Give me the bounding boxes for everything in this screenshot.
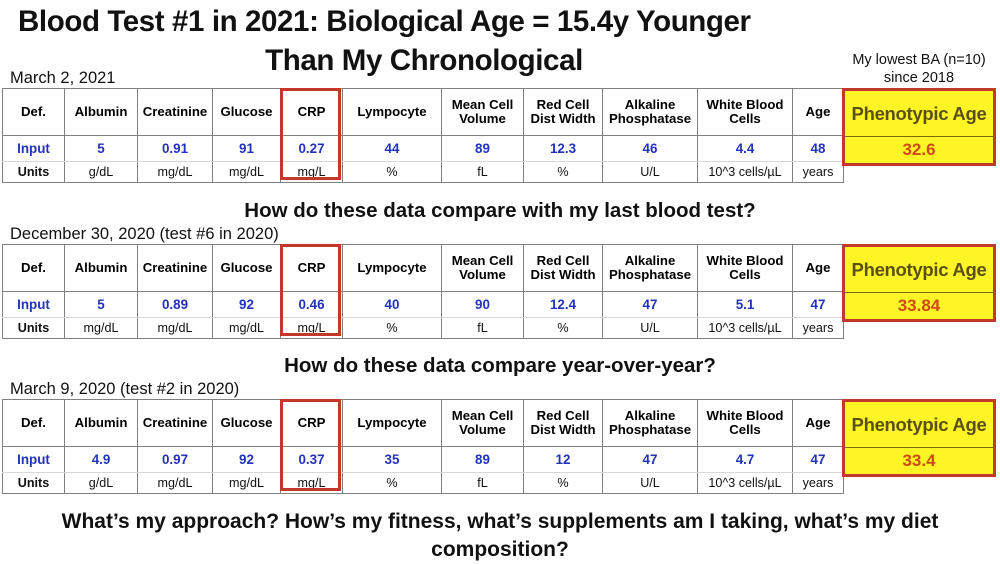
col-header-mean-cell-volume: Mean CellVolume	[442, 245, 524, 292]
input-creatinine: 0.97	[138, 447, 213, 473]
units-creatinine: mg/dL	[138, 162, 213, 183]
units-creatinine: mg/dL	[138, 473, 213, 494]
phenotypic-age-header: Phenotypic Age	[845, 91, 993, 137]
annotation-line-1: My lowest BA (n=10)	[840, 51, 998, 69]
mcv-line-1: Mean Cell	[452, 253, 514, 268]
question-banner-2: How do these data compare year-over-year…	[0, 354, 1000, 378]
table-row-input: Input 5 0.89 92 0.46 40 90 12.4 47 5.1 4…	[3, 292, 844, 318]
units-age: years	[793, 318, 844, 339]
units-alkaline-phosphatase: U/L	[603, 318, 698, 339]
units-albumin: g/dL	[65, 162, 138, 183]
phenotypic-age-box: Phenotypic Age 32.6	[842, 88, 996, 166]
col-header-mean-cell-volume: Mean CellVolume	[442, 89, 524, 136]
input-white-blood-cells: 4.7	[698, 447, 793, 473]
units-glucose: mg/dL	[213, 318, 281, 339]
col-header-lympocyte: Lympocyte	[343, 89, 442, 136]
col-header-glucose: Glucose	[213, 400, 281, 447]
mcv-line-2: Volume	[459, 267, 506, 282]
units-alkaline-phosphatase: U/L	[603, 473, 698, 494]
phenotypic-age-box: Phenotypic Age 33.4	[842, 399, 996, 477]
units-red-cell-dist-width: %	[524, 473, 603, 494]
units-creatinine: mg/dL	[138, 318, 213, 339]
rdw-line-1: Red Cell	[537, 253, 590, 268]
col-header-white-blood-cells: White BloodCells	[698, 89, 793, 136]
units-age: years	[793, 162, 844, 183]
col-header-creatinine: Creatinine	[138, 245, 213, 292]
rdw-line-1: Red Cell	[537, 97, 590, 112]
units-crp: mg/L	[281, 473, 343, 494]
col-header-red-cell-dist-width: Red CellDist Width	[524, 89, 603, 136]
col-header-alkaline-phosphatase: AlkalinePhosphatase	[603, 89, 698, 136]
input-white-blood-cells: 4.4	[698, 136, 793, 162]
alp-line-1: Alkaline	[625, 408, 676, 423]
units-crp: mg/L	[281, 162, 343, 183]
blood-test-section-2: December 30, 2020 (test #6 in 2020) Def.…	[0, 224, 1000, 339]
units-alkaline-phosphatase: U/L	[603, 162, 698, 183]
input-red-cell-dist-width: 12.3	[524, 136, 603, 162]
wbc-line-2: Cells	[729, 267, 761, 282]
blood-test-section-1: March 2, 2021 Def. Albumin Creatinine Gl…	[0, 68, 1000, 183]
table-row-units: Units g/dL mg/dL mg/dL mg/L % fL % U/L 1…	[3, 162, 844, 183]
input-crp: 0.46	[281, 292, 343, 318]
units-white-blood-cells: 10^3 cells/µL	[698, 473, 793, 494]
input-glucose: 92	[213, 292, 281, 318]
col-header-red-cell-dist-width: Red CellDist Width	[524, 245, 603, 292]
rdw-line-2: Dist Width	[530, 267, 595, 282]
units-mean-cell-volume: fL	[442, 473, 524, 494]
wbc-line-1: White Blood	[707, 253, 784, 268]
col-header-def: Def.	[3, 400, 65, 447]
col-header-albumin: Albumin	[65, 89, 138, 136]
col-header-def: Def.	[3, 89, 65, 136]
phenotypic-age-value: 32.6	[845, 137, 993, 163]
phenotypic-age-box: Phenotypic Age 33.84	[842, 244, 996, 322]
rdw-line-2: Dist Width	[530, 111, 595, 126]
row-label-units: Units	[3, 318, 65, 339]
col-header-age: Age	[793, 400, 844, 447]
closing-line-1: What’s my approach? How’s my fitness, wh…	[14, 508, 986, 536]
input-red-cell-dist-width: 12	[524, 447, 603, 473]
input-white-blood-cells: 5.1	[698, 292, 793, 318]
input-alkaline-phosphatase: 47	[603, 447, 698, 473]
section-1-date: March 2, 2021	[0, 68, 1000, 88]
section-2-date: December 30, 2020 (test #6 in 2020)	[0, 224, 1000, 244]
wbc-line-2: Cells	[729, 111, 761, 126]
col-header-mean-cell-volume: Mean CellVolume	[442, 400, 524, 447]
col-header-glucose: Glucose	[213, 89, 281, 136]
table-row-input: Input 4.9 0.97 92 0.37 35 89 12 47 4.7 4…	[3, 447, 844, 473]
col-header-crp: CRP	[281, 245, 343, 292]
alp-line-2: Phosphatase	[609, 422, 691, 437]
mcv-line-2: Volume	[459, 111, 506, 126]
alp-line-1: Alkaline	[625, 253, 676, 268]
table-row-input: Input 5 0.91 91 0.27 44 89 12.3 46 4.4 4…	[3, 136, 844, 162]
input-albumin: 4.9	[65, 447, 138, 473]
units-red-cell-dist-width: %	[524, 318, 603, 339]
col-header-age: Age	[793, 89, 844, 136]
input-mean-cell-volume: 90	[442, 292, 524, 318]
wbc-line-2: Cells	[729, 422, 761, 437]
input-age: 47	[793, 447, 844, 473]
row-label-input: Input	[3, 292, 65, 318]
row-label-units: Units	[3, 473, 65, 494]
input-crp: 0.27	[281, 136, 343, 162]
input-alkaline-phosphatase: 46	[603, 136, 698, 162]
mcv-line-1: Mean Cell	[452, 408, 514, 423]
title-line-1: Blood Test #1 in 2021: Biological Age = …	[8, 2, 992, 41]
input-crp: 0.37	[281, 447, 343, 473]
closing-question: What’s my approach? How’s my fitness, wh…	[0, 508, 1000, 564]
units-white-blood-cells: 10^3 cells/µL	[698, 318, 793, 339]
phenotypic-age-value: 33.84	[845, 293, 993, 319]
table-header-row: Def. Albumin Creatinine Glucose CRP Lymp…	[3, 245, 844, 292]
col-header-alkaline-phosphatase: AlkalinePhosphatase	[603, 245, 698, 292]
table-header-row: Def. Albumin Creatinine Glucose CRP Lymp…	[3, 89, 844, 136]
col-header-glucose: Glucose	[213, 245, 281, 292]
rdw-line-2: Dist Width	[530, 422, 595, 437]
input-lympocyte: 35	[343, 447, 442, 473]
row-label-units: Units	[3, 162, 65, 183]
wbc-line-1: White Blood	[707, 408, 784, 423]
units-lympocyte: %	[343, 473, 442, 494]
input-lympocyte: 44	[343, 136, 442, 162]
units-red-cell-dist-width: %	[524, 162, 603, 183]
phenotypic-age-header: Phenotypic Age	[845, 402, 993, 448]
blood-test-table-1: Def. Albumin Creatinine Glucose CRP Lymp…	[2, 88, 844, 183]
units-white-blood-cells: 10^3 cells/µL	[698, 162, 793, 183]
row-label-input: Input	[3, 136, 65, 162]
blood-test-table-3: Def. Albumin Creatinine Glucose CRP Lymp…	[2, 399, 844, 494]
alp-line-2: Phosphatase	[609, 267, 691, 282]
wbc-line-1: White Blood	[707, 97, 784, 112]
col-header-age: Age	[793, 245, 844, 292]
input-age: 47	[793, 292, 844, 318]
alp-line-2: Phosphatase	[609, 111, 691, 126]
input-creatinine: 0.89	[138, 292, 213, 318]
table-row-units: Units g/dL mg/dL mg/dL mg/L % fL % U/L 1…	[3, 473, 844, 494]
alp-line-1: Alkaline	[625, 97, 676, 112]
blood-test-table-2: Def. Albumin Creatinine Glucose CRP Lymp…	[2, 244, 844, 339]
table-row-units: Units mg/dL mg/dL mg/dL mg/L % fL % U/L …	[3, 318, 844, 339]
input-creatinine: 0.91	[138, 136, 213, 162]
col-header-white-blood-cells: White BloodCells	[698, 400, 793, 447]
section-3-date: March 9, 2020 (test #2 in 2020)	[0, 379, 1000, 399]
table-header-row: Def. Albumin Creatinine Glucose CRP Lymp…	[3, 400, 844, 447]
phenotypic-age-value: 33.4	[845, 448, 993, 474]
units-mean-cell-volume: fL	[442, 162, 524, 183]
row-label-input: Input	[3, 447, 65, 473]
col-header-lympocyte: Lympocyte	[343, 245, 442, 292]
col-header-def: Def.	[3, 245, 65, 292]
input-age: 48	[793, 136, 844, 162]
mcv-line-2: Volume	[459, 422, 506, 437]
units-albumin: g/dL	[65, 473, 138, 494]
input-glucose: 91	[213, 136, 281, 162]
input-glucose: 92	[213, 447, 281, 473]
input-albumin: 5	[65, 292, 138, 318]
closing-line-2: composition?	[14, 536, 986, 564]
col-header-creatinine: Creatinine	[138, 89, 213, 136]
input-mean-cell-volume: 89	[442, 136, 524, 162]
units-lympocyte: %	[343, 318, 442, 339]
col-header-crp: CRP	[281, 400, 343, 447]
units-age: years	[793, 473, 844, 494]
col-header-alkaline-phosphatase: AlkalinePhosphatase	[603, 400, 698, 447]
input-lympocyte: 40	[343, 292, 442, 318]
col-header-red-cell-dist-width: Red CellDist Width	[524, 400, 603, 447]
question-banner-1: How do these data compare with my last b…	[0, 199, 1000, 223]
phenotypic-age-header: Phenotypic Age	[845, 247, 993, 293]
units-glucose: mg/dL	[213, 473, 281, 494]
units-crp: mg/L	[281, 318, 343, 339]
input-albumin: 5	[65, 136, 138, 162]
units-glucose: mg/dL	[213, 162, 281, 183]
input-red-cell-dist-width: 12.4	[524, 292, 603, 318]
col-header-lympocyte: Lympocyte	[343, 400, 442, 447]
units-mean-cell-volume: fL	[442, 318, 524, 339]
mcv-line-1: Mean Cell	[452, 97, 514, 112]
col-header-crp: CRP	[281, 89, 343, 136]
col-header-albumin: Albumin	[65, 245, 138, 292]
input-alkaline-phosphatase: 47	[603, 292, 698, 318]
rdw-line-1: Red Cell	[537, 408, 590, 423]
col-header-albumin: Albumin	[65, 400, 138, 447]
input-mean-cell-volume: 89	[442, 447, 524, 473]
units-albumin: mg/dL	[65, 318, 138, 339]
col-header-white-blood-cells: White BloodCells	[698, 245, 793, 292]
col-header-creatinine: Creatinine	[138, 400, 213, 447]
units-lympocyte: %	[343, 162, 442, 183]
blood-test-section-3: March 9, 2020 (test #2 in 2020) Def. Alb…	[0, 379, 1000, 494]
